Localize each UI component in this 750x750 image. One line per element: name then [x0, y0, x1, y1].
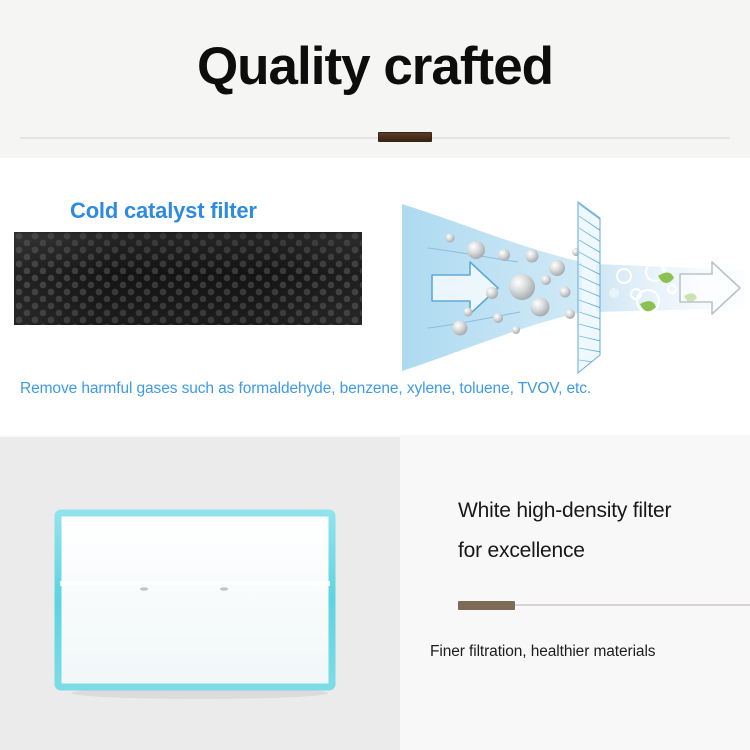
- white-filter-caption: Finer filtration, healthier materials: [430, 643, 655, 661]
- white-filter-text-panel: White high-density filter for excellence…: [400, 435, 750, 750]
- cold-catalyst-caption: Remove harmful gases such as formaldehyd…: [20, 380, 591, 398]
- air-filtration-flow-diagram: [400, 200, 745, 375]
- white-filter-title: White high-density filter for excellence: [458, 491, 738, 571]
- header-band: Quality crafted: [0, 0, 750, 158]
- white-high-density-filter-panel-image: [48, 505, 348, 700]
- product-infographic: Quality crafted Cold catalyst filter: [0, 0, 750, 750]
- white-filter-accent-bar: [458, 601, 515, 610]
- filter-mesh-panel: [578, 202, 601, 374]
- section-cold-catalyst: Cold catalyst filter: [0, 158, 750, 435]
- white-filter-title-line1: White high-density filter: [458, 491, 738, 531]
- header-accent-bar: [378, 132, 432, 142]
- header-divider-line: [20, 137, 730, 139]
- white-filter-title-line2: for excellence: [458, 531, 738, 571]
- carbon-filter-sheen: [14, 232, 362, 325]
- page-title: Quality crafted: [0, 36, 750, 97]
- section-white-filter: White high-density filter for excellence…: [0, 435, 750, 750]
- white-filter-photo-panel: [0, 437, 400, 750]
- black-honeycomb-carbon-filter-image: [14, 232, 362, 325]
- cold-catalyst-title: Cold catalyst filter: [70, 198, 257, 224]
